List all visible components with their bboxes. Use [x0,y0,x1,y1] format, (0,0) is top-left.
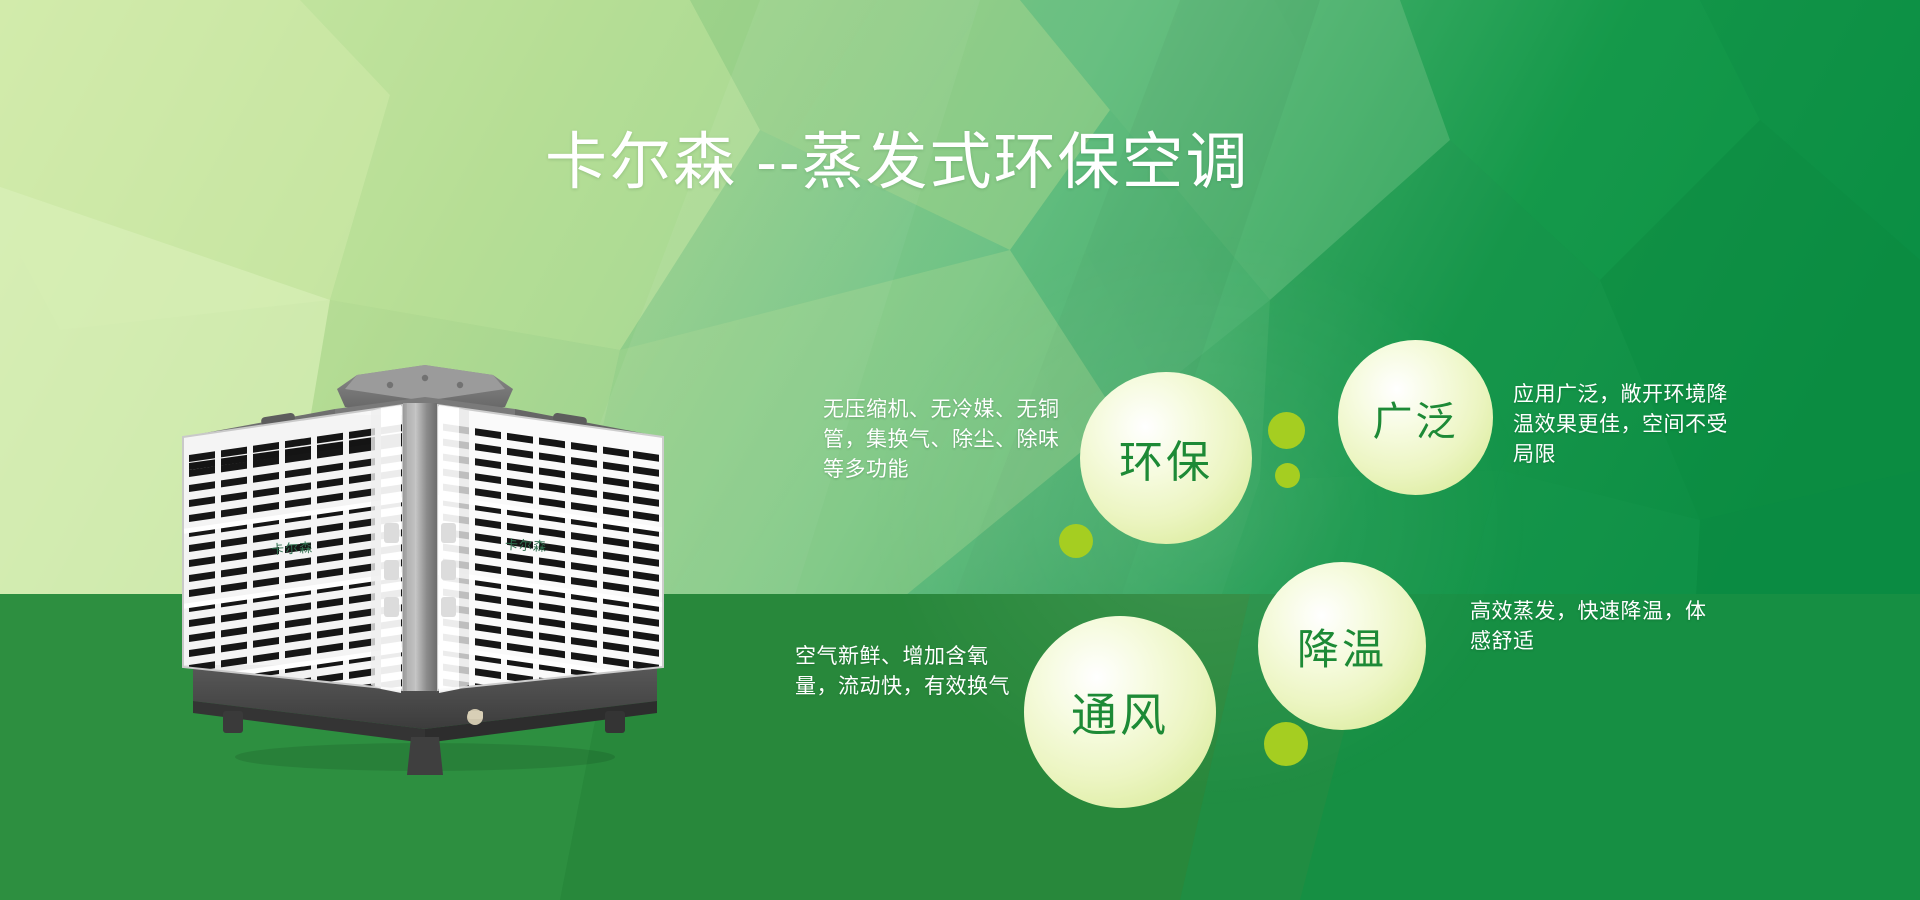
product-image-air-cooler: 卡尔森 卡尔森 [175,345,675,775]
product-brand-right: 卡尔森 [505,534,548,555]
decor-dot-mid-left [1059,524,1093,558]
feature-caption-tongfeng: 空气新鲜、增加含氧量，流动快，有效换气 [795,642,1017,702]
product-brand-left: 卡尔森 [271,537,314,558]
feature-bubble-jiangwen: 降温 [1258,562,1426,730]
air-cooler-illustration [175,345,675,775]
promo-banner: 卡尔森 --蒸发式环保空调 [0,0,1920,900]
feature-bubble-huanbao: 环保 [1080,372,1252,544]
decor-dot-lower [1264,722,1308,766]
feature-caption-huanbao: 无压缩机、无冷媒、无铜管，集换气、除尘、除味等多功能 [823,395,1063,484]
feature-caption-jiangwen: 高效蒸发，快速降温，体感舒适 [1470,597,1725,657]
feature-bubble-tongfeng: 通风 [1024,616,1216,808]
feature-bubble-guangfan: 广泛 [1338,340,1493,495]
feature-caption-guangfan: 应用广泛，敞开环境降温效果更佳，空间不受局限 [1513,380,1745,469]
banner-title: 卡尔森 --蒸发式环保空调 [545,131,1250,194]
decor-dot-small-upper [1275,463,1300,488]
decor-dot-large-upper [1268,412,1305,449]
